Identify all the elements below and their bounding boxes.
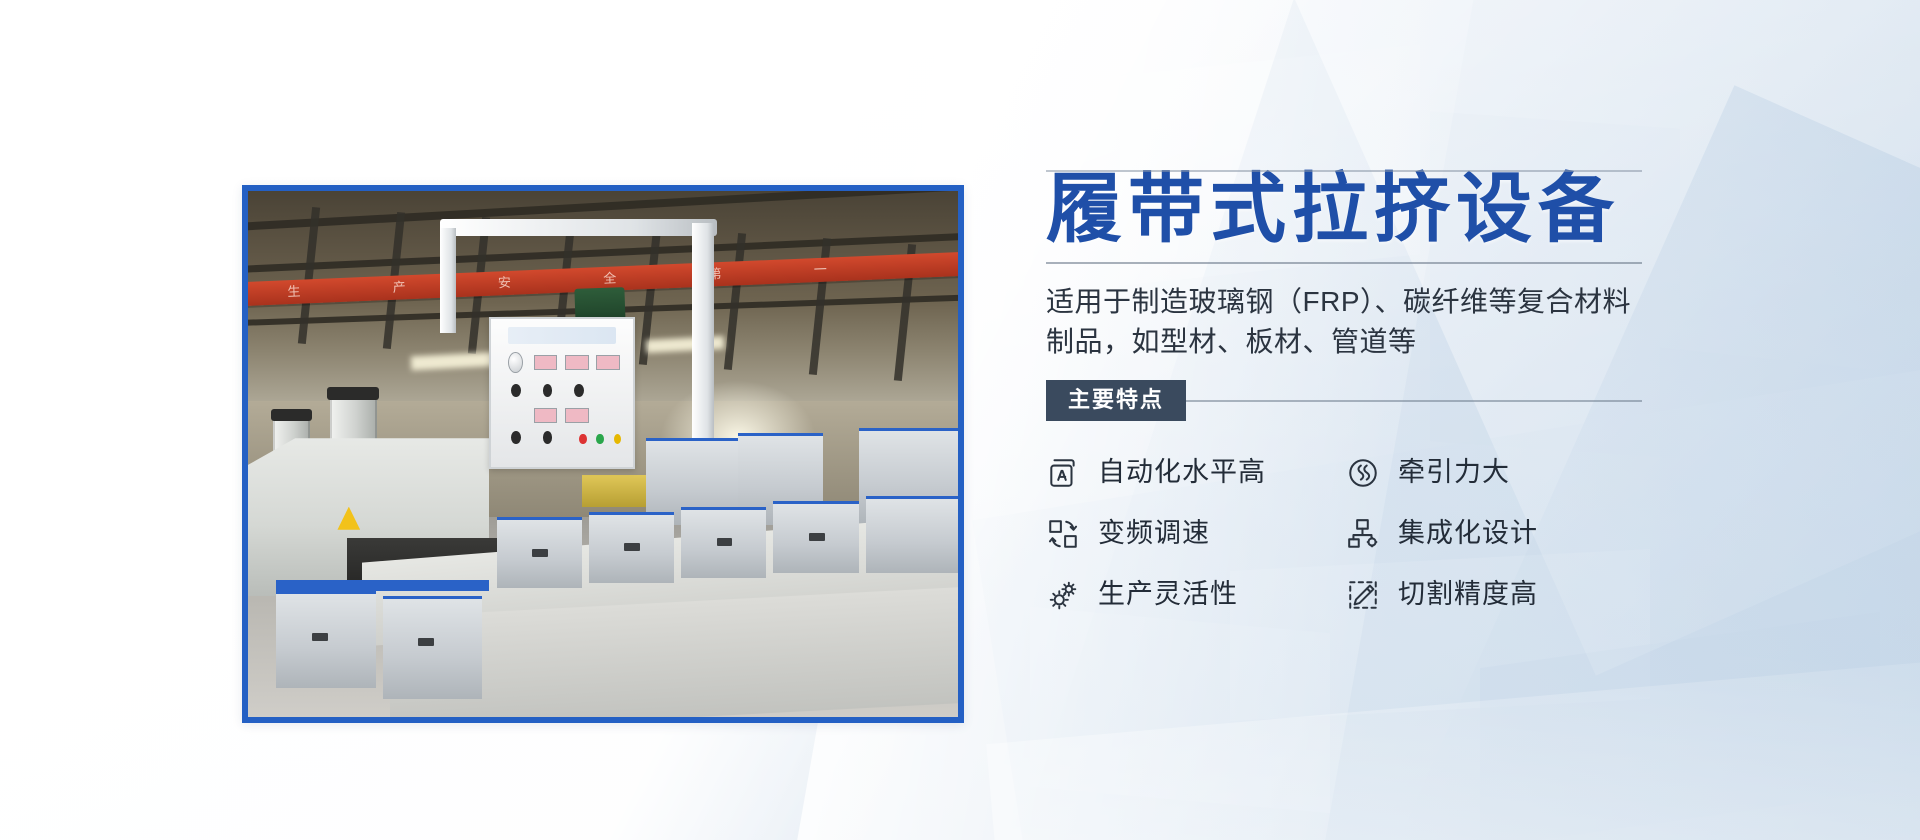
traction-wave-icon — [1346, 456, 1380, 490]
divider-top — [1046, 170, 1642, 172]
feature-label: 牵引力大 — [1398, 459, 1510, 486]
feature-label: 切割精度高 — [1398, 581, 1538, 608]
divider-under-title — [1046, 262, 1642, 264]
banner-content: 履带式拉挤设备 适用于制造玻璃钢（FRP）、碳纤维等复合材料制品，如型材、板材、… — [1046, 170, 1766, 612]
feature-label: 集成化设计 — [1398, 520, 1538, 547]
feature-item-flexibility: 生产灵活性 — [1046, 578, 1338, 612]
product-photo: 生 产 安 全 第 一 — [248, 191, 958, 717]
cut-precision-pen-icon — [1346, 578, 1380, 612]
product-banner: 生 产 安 全 第 一 — [0, 0, 1920, 840]
frequency-swap-icon — [1046, 517, 1080, 551]
feature-label: 自动化水平高 — [1098, 459, 1266, 486]
automation-a-icon — [1046, 456, 1080, 490]
product-photo-frame: 生 产 安 全 第 一 — [242, 185, 964, 723]
feature-label: 生产灵活性 — [1098, 581, 1238, 608]
badge-row: 主要特点 — [1046, 380, 1766, 422]
feature-item-automation: 自动化水平高 — [1046, 456, 1338, 490]
feature-label: 变频调速 — [1098, 520, 1210, 547]
feature-item-traction: 牵引力大 — [1346, 456, 1638, 490]
page-title: 履带式拉挤设备 — [1046, 172, 1766, 248]
status-badge: 主要特点 — [1046, 380, 1186, 421]
banner-subtitle: 适用于制造玻璃钢（FRP）、碳纤维等复合材料制品，如型材、板材、管道等 — [1046, 282, 1646, 362]
feature-item-integration: 集成化设计 — [1346, 517, 1638, 551]
gears-icon — [1046, 578, 1080, 612]
feature-item-frequency: 变频调速 — [1046, 517, 1338, 551]
feature-list: 自动化水平高 牵引力大 — [1046, 456, 1766, 612]
integration-sitemap-icon — [1346, 517, 1380, 551]
feature-item-cutting: 切割精度高 — [1346, 578, 1638, 612]
